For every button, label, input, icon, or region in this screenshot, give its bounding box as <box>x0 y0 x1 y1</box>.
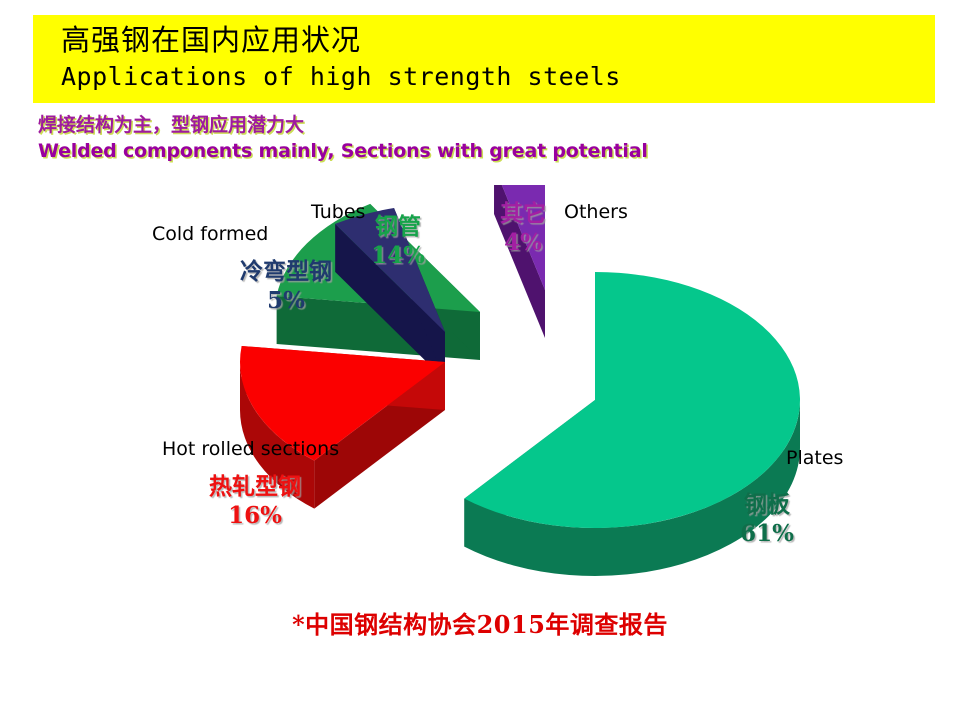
label-tubes-pct: 14% <box>363 241 433 270</box>
label-plates-cn: 钢板 <box>712 490 822 519</box>
label-tubes-cn: 钢管 <box>363 212 433 241</box>
label-hot-rolled-pct: 16% <box>185 501 325 530</box>
label-cold-formed-cn: 冷弯型钢 <box>226 257 346 286</box>
label-hot-rolled-cn: 热轧型钢 <box>185 472 325 501</box>
label-plates-pct: 61% <box>712 519 822 548</box>
subheading: 焊接结构为主，型钢应用潜力大 Welded components mainly,… <box>38 113 648 164</box>
label-cold-formed-cn-group: 冷弯型钢 5% <box>226 257 346 315</box>
label-others-pct: 4% <box>488 228 558 257</box>
title-banner: 高强钢在国内应用状况 Applications of high strength… <box>33 15 935 103</box>
footnote: *中国钢结构协会2015年调查报告 <box>0 605 960 640</box>
slide-canvas: 高强钢在国内应用状况 Applications of high strength… <box>0 0 960 720</box>
label-plates-cn-group: 钢板 61% <box>712 490 822 548</box>
subheading-en: Welded components mainly, Sections with … <box>38 138 648 164</box>
page-title-en: Applications of high strength steels <box>61 59 935 95</box>
label-cold-formed-en: Cold formed <box>152 223 268 245</box>
label-tubes-cn-group: 钢管 14% <box>363 212 433 270</box>
subheading-cn: 焊接结构为主，型钢应用潜力大 <box>38 113 648 138</box>
page-title-cn: 高强钢在国内应用状况 <box>61 21 935 59</box>
label-hot-rolled-cn-group: 热轧型钢 16% <box>185 472 325 530</box>
label-plates-en: Plates <box>786 447 843 469</box>
label-cold-formed-pct: 5% <box>226 286 346 315</box>
pie-chart: Cold formed Tubes Others Plates Hot roll… <box>0 185 960 585</box>
label-others-en: Others <box>564 201 628 223</box>
label-tubes-en: Tubes <box>311 201 365 223</box>
label-others-cn-group: 其它 4% <box>488 199 558 257</box>
label-others-cn: 其它 <box>488 199 558 228</box>
label-hot-rolled-en: Hot rolled sections <box>162 438 339 460</box>
